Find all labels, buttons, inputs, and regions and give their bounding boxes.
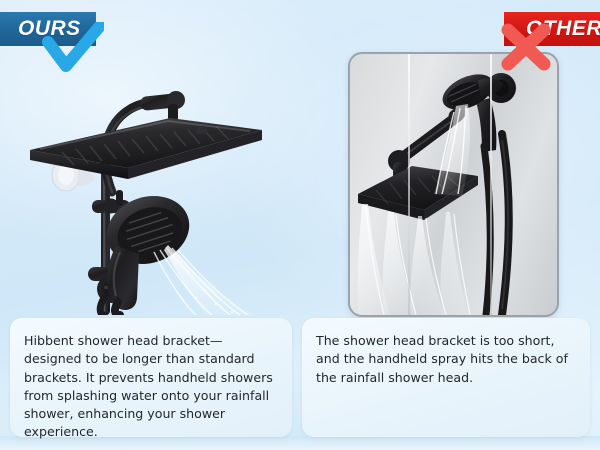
water-spray	[154, 245, 256, 315]
others-shower-illustration	[350, 54, 557, 315]
waterfall	[357, 204, 470, 315]
badge-ours: OURS	[0, 12, 96, 46]
caption-card-others: The shower head bracket is too short, an…	[302, 318, 590, 437]
others-product-scene	[300, 40, 600, 315]
ours-product-scene	[0, 40, 300, 315]
swivel-joint	[139, 91, 185, 122]
badge-others: OTHERS	[504, 12, 600, 46]
badge-others-label: OTHERS	[526, 17, 600, 41]
handheld-shower-head-short	[437, 67, 504, 116]
comparison-infographic: OURS OTHERS Hibbent shower head bracket—…	[0, 0, 600, 450]
others-photo-frame	[348, 52, 559, 317]
badge-ours-label: OURS	[18, 17, 81, 41]
hoses	[484, 134, 509, 315]
ours-shower-illustration	[0, 40, 300, 315]
spray-hitting-rainfall-head	[434, 104, 470, 196]
caption-card-ours: Hibbent shower head bracket—designed to …	[10, 318, 292, 437]
caption-text-others: The shower head bracket is too short, an…	[316, 332, 577, 387]
caption-text-ours: Hibbent shower head bracket—designed to …	[24, 332, 279, 442]
